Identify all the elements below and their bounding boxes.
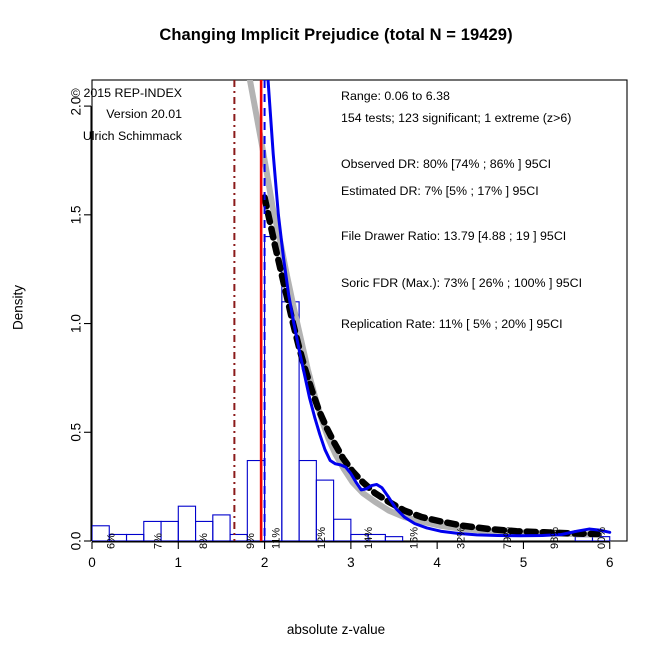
- credit-line: Ulrich Schimmack: [83, 129, 183, 143]
- bin-percent-label: 7%: [153, 533, 165, 549]
- chart-page: Changing Implicit Prejudice (total N = 1…: [0, 0, 672, 671]
- bin-percent-label: 79%: [502, 527, 514, 549]
- histogram-bar: [299, 461, 316, 541]
- bin-percent-label: 9%: [245, 533, 257, 549]
- x-tick-label: 6: [606, 555, 614, 570]
- y-tick-label: 1.5: [69, 205, 84, 224]
- x-tick-label: 3: [347, 555, 355, 570]
- bin-percent-label: 6%: [106, 533, 118, 549]
- credit-line: © 2015 REP-INDEX: [71, 86, 182, 100]
- x-tick-label: 4: [433, 555, 441, 570]
- bin-percent-label: 00%: [596, 527, 608, 549]
- bin-percent-label: 16%: [408, 527, 420, 549]
- stat-line: Replication Rate: 11% [ 5% ; 20% ] 95CI: [341, 317, 563, 331]
- series-line: [250, 80, 598, 534]
- histogram-bar: [334, 519, 351, 541]
- bin-percent-label: 8%: [198, 533, 210, 549]
- histogram-bar: [213, 515, 230, 541]
- stat-line: Soric FDR (Max.): 73% [ 26% ; 100% ] 95C…: [341, 276, 582, 290]
- y-tick-label: 1.0: [69, 314, 84, 333]
- series-line: [268, 80, 610, 536]
- x-tick-label: 2: [261, 555, 269, 570]
- y-tick-label: 0.5: [69, 423, 84, 442]
- bin-percent-label: 14%: [363, 527, 375, 549]
- plot-frame: [92, 80, 627, 541]
- stat-line: Range: 0.06 to 6.38: [341, 89, 450, 103]
- density-plot: 01234560.00.51.01.52.06%7%8%9%11%12%14%1…: [0, 0, 672, 671]
- y-tick-label: 0.0: [69, 532, 84, 551]
- histogram-bar: [127, 534, 144, 541]
- stat-line: Estimated DR: 7% [5% ; 17% ] 95CI: [341, 184, 539, 198]
- series-line: [265, 197, 598, 534]
- x-tick-label: 5: [520, 555, 528, 570]
- x-tick-label: 0: [88, 555, 96, 570]
- bin-percent-label: 11%: [271, 528, 283, 549]
- histogram-bar: [385, 537, 402, 541]
- bin-percent-label: 12%: [316, 527, 328, 549]
- credit-line: Version 20.01: [106, 107, 182, 121]
- stat-line: 154 tests; 123 significant; 1 extreme (z…: [341, 111, 571, 125]
- stat-line: Observed DR: 80% [74% ; 86% ] 95CI: [341, 157, 551, 171]
- x-tick-label: 1: [175, 555, 183, 570]
- histogram-bar: [265, 237, 282, 541]
- histogram-bar: [178, 506, 195, 541]
- stat-line: File Drawer Ratio: 13.79 [4.88 ; 19 ] 95…: [341, 229, 566, 243]
- bin-percent-label: 98%: [549, 527, 561, 549]
- bin-percent-label: 32%: [455, 527, 467, 549]
